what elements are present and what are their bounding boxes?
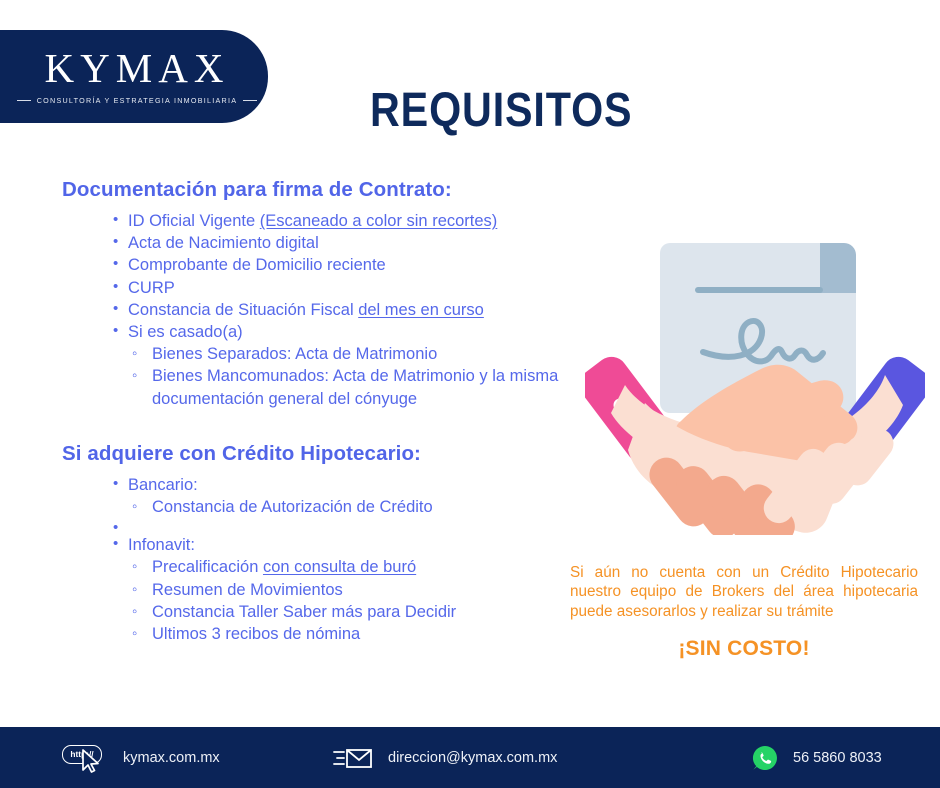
logo-rule-right bbox=[243, 100, 257, 101]
sublist-casado: Bienes Separados: Acta de Matrimonio Bie… bbox=[128, 343, 560, 410]
item-text: Infonavit: bbox=[128, 536, 195, 554]
logo-wordmark: KYMAX bbox=[39, 48, 230, 89]
sub-list-item: Resumen de Movimientos bbox=[124, 579, 560, 601]
whatsapp-icon bbox=[752, 745, 778, 771]
logo-badge: KYMAX CONSULTORÍA Y ESTRATEGIA INMOBILIA… bbox=[0, 30, 268, 123]
list-item: Bancario: Constancia de Autorización de … bbox=[0, 474, 560, 518]
subitem-underlined: con consulta de buró bbox=[263, 558, 416, 576]
footer-whatsapp[interactable]: 56 5860 8033 bbox=[752, 745, 882, 771]
promo-text: Si aún no cuenta con un Crédito Hipoteca… bbox=[570, 563, 918, 621]
item-underlined: del mes en curso bbox=[358, 301, 484, 319]
item-text: Si es casado(a) bbox=[128, 323, 243, 341]
promo-block: Si aún no cuenta con un Crédito Hipoteca… bbox=[570, 563, 918, 661]
page-title: REQUISITOS bbox=[370, 83, 632, 138]
phone-label: 56 5860 8033 bbox=[793, 750, 882, 766]
logo-tagline: CONSULTORÍA Y ESTRATEGIA INMOBILIARIA bbox=[37, 96, 238, 105]
footer-bar: http:// kymax.com.mx direccion@kymax.com… bbox=[0, 727, 940, 788]
list-item: Comprobante de Domicilio reciente bbox=[0, 254, 560, 276]
list-item: Acta de Nacimiento digital bbox=[0, 232, 560, 254]
subitem-text: Bienes Mancomunados: Acta de Matrimonio … bbox=[152, 367, 558, 407]
item-text: Acta de Nacimiento digital bbox=[128, 234, 319, 252]
list-item: Constancia de Situación Fiscal del mes e… bbox=[0, 299, 560, 321]
logo-rule-left bbox=[17, 100, 31, 101]
subitem-text: Precalificación bbox=[152, 558, 263, 576]
section-heading-documentacion: Documentación para firma de Contrato: bbox=[62, 178, 560, 202]
list-item: CURP bbox=[0, 277, 560, 299]
subitem-text: Bienes Separados: Acta de Matrimonio bbox=[152, 345, 437, 363]
requirements-content: Documentación para firma de Contrato: ID… bbox=[0, 178, 560, 645]
list-credito: Bancario: Constancia de Autorización de … bbox=[0, 474, 560, 645]
website-label: kymax.com.mx bbox=[123, 750, 220, 766]
section-heading-credito: Si adquiere con Crédito Hipotecario: bbox=[62, 442, 560, 466]
sublist-bancario: Constancia de Autorización de Crédito bbox=[128, 496, 560, 518]
sublist-infonavit: Precalificación con consulta de buró Res… bbox=[128, 556, 560, 645]
sub-list-item: Constancia de Autorización de Crédito bbox=[124, 496, 560, 518]
list-documentacion: ID Oficial Vigente (Escaneado a color si… bbox=[0, 210, 560, 410]
promo-cta: ¡SIN COSTO! bbox=[570, 637, 918, 661]
item-text: Comprobante de Domicilio reciente bbox=[128, 256, 386, 274]
item-text: CURP bbox=[128, 279, 175, 297]
list-item: Infonavit: Precalificación con consulta … bbox=[0, 534, 560, 645]
list-spacer bbox=[0, 518, 560, 534]
website-cursor-icon: http:// bbox=[62, 743, 108, 773]
sub-list-item: Ultimos 3 recibos de nómina bbox=[124, 623, 560, 645]
email-label: direccion@kymax.com.mx bbox=[388, 750, 557, 766]
subitem-text: Constancia de Autorización de Crédito bbox=[152, 498, 433, 516]
subitem-text: Resumen de Movimientos bbox=[152, 581, 343, 599]
list-item: Si es casado(a) Bienes Separados: Acta d… bbox=[0, 321, 560, 410]
footer-email[interactable]: direccion@kymax.com.mx bbox=[333, 746, 557, 770]
sub-list-item: Bienes Mancomunados: Acta de Matrimonio … bbox=[124, 365, 560, 409]
handshake-contract-illustration bbox=[585, 225, 925, 535]
sub-list-item: Bienes Separados: Acta de Matrimonio bbox=[124, 343, 560, 365]
logo-tagline-row: CONSULTORÍA Y ESTRATEGIA INMOBILIARIA bbox=[11, 96, 258, 105]
list-item: ID Oficial Vigente (Escaneado a color si… bbox=[0, 210, 560, 232]
item-underlined: (Escaneado a color sin recortes) bbox=[260, 212, 498, 230]
item-text: Constancia de Situación Fiscal bbox=[128, 301, 358, 319]
item-text: ID Oficial Vigente bbox=[128, 212, 260, 230]
sub-list-item: Constancia Taller Saber más para Decidir bbox=[124, 601, 560, 623]
sub-list-item: Precalificación con consulta de buró bbox=[124, 556, 560, 578]
envelope-icon bbox=[333, 746, 373, 770]
item-text: Bancario: bbox=[128, 476, 198, 494]
footer-website[interactable]: http:// kymax.com.mx bbox=[62, 743, 220, 773]
subitem-text: Constancia Taller Saber más para Decidir bbox=[152, 603, 456, 621]
subitem-text: Ultimos 3 recibos de nómina bbox=[152, 625, 360, 643]
